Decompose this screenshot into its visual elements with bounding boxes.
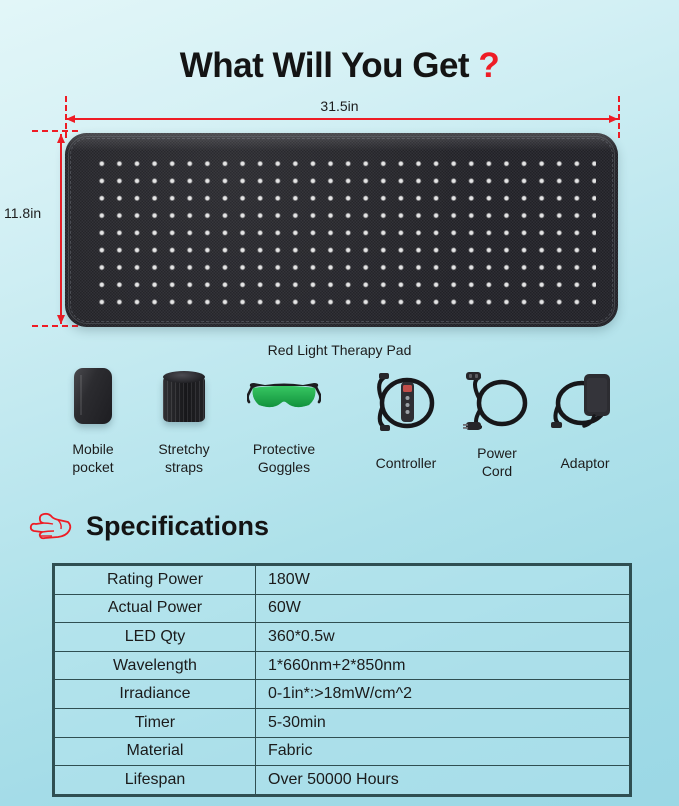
table-row: LED Qty360*0.5w — [55, 623, 630, 652]
product-caption: Red Light Therapy Pad — [0, 342, 679, 358]
spec-key: Rating Power — [55, 566, 256, 595]
height-dimension-label: 11.8in — [4, 205, 60, 221]
spec-key: Material — [55, 737, 256, 766]
spec-key: LED Qty — [55, 623, 256, 652]
table-row: Wavelength1*660nm+2*850nm — [55, 651, 630, 680]
specifications-title: Specifications — [86, 511, 269, 542]
spec-value: 60W — [256, 594, 630, 623]
specifications-header: Specifications — [28, 506, 269, 546]
spec-value: Over 50000 Hours — [256, 766, 630, 795]
table-row: Irradiance0-1in*:>18mW/cm^2 — [55, 680, 630, 709]
specifications-table-body: Rating Power180W Actual Power60W LED Qty… — [55, 566, 630, 795]
adaptor-svg — [542, 370, 628, 432]
accessory-label: Adaptor — [525, 440, 645, 472]
specifications-table: Rating Power180W Actual Power60W LED Qty… — [52, 563, 632, 797]
pointing-hand-icon — [28, 510, 74, 542]
accessory-label-line2: Goggles — [224, 458, 344, 476]
dimension-guide-top — [32, 130, 78, 132]
spec-value: 180W — [256, 566, 630, 595]
accessory-adaptor: Adaptor — [525, 362, 645, 472]
accessory-label: Protective Goggles — [224, 440, 344, 476]
infographic-canvas: What Will You Get ? 31.5in 11.8in Red Li… — [0, 0, 679, 806]
dimension-guide-bottom — [32, 325, 78, 327]
spec-value: 0-1in*:>18mW/cm^2 — [256, 680, 630, 709]
pocket-body — [74, 368, 112, 424]
spec-key: Timer — [55, 708, 256, 737]
adaptor-icon — [525, 362, 645, 440]
spec-key: Wavelength — [55, 651, 256, 680]
strap-roll-top — [163, 371, 205, 383]
therapy-pad-image — [65, 133, 618, 327]
table-row: LifespanOver 50000 Hours — [55, 766, 630, 795]
spec-key: Actual Power — [55, 594, 256, 623]
spec-key: Lifespan — [55, 766, 256, 795]
spec-value: Fabric — [256, 737, 630, 766]
table-row: Rating Power180W — [55, 566, 630, 595]
table-row: Timer5-30min — [55, 708, 630, 737]
question-mark-glyph: ? — [478, 46, 499, 85]
page-title-text: What Will You Get — [180, 46, 469, 85]
accessory-protective-goggles: Protective Goggles — [224, 362, 344, 476]
spec-value: 1*660nm+2*850nm — [256, 651, 630, 680]
goggles-icon — [224, 362, 344, 440]
height-dimension-arrow — [60, 134, 62, 324]
table-row: Actual Power60W — [55, 594, 630, 623]
accessory-label-line1: Adaptor — [525, 454, 645, 472]
spec-value: 5-30min — [256, 708, 630, 737]
spec-key: Irradiance — [55, 680, 256, 709]
width-dimension-label: 31.5in — [0, 98, 679, 114]
goggles-svg — [247, 380, 321, 414]
table-row: MaterialFabric — [55, 737, 630, 766]
spec-value: 360*0.5w — [256, 623, 630, 652]
led-dot-grid — [93, 155, 596, 307]
accessory-label-line1: Protective — [224, 440, 344, 458]
width-dimension-arrow — [66, 118, 618, 120]
page-title: What Will You Get ? — [0, 46, 679, 86]
